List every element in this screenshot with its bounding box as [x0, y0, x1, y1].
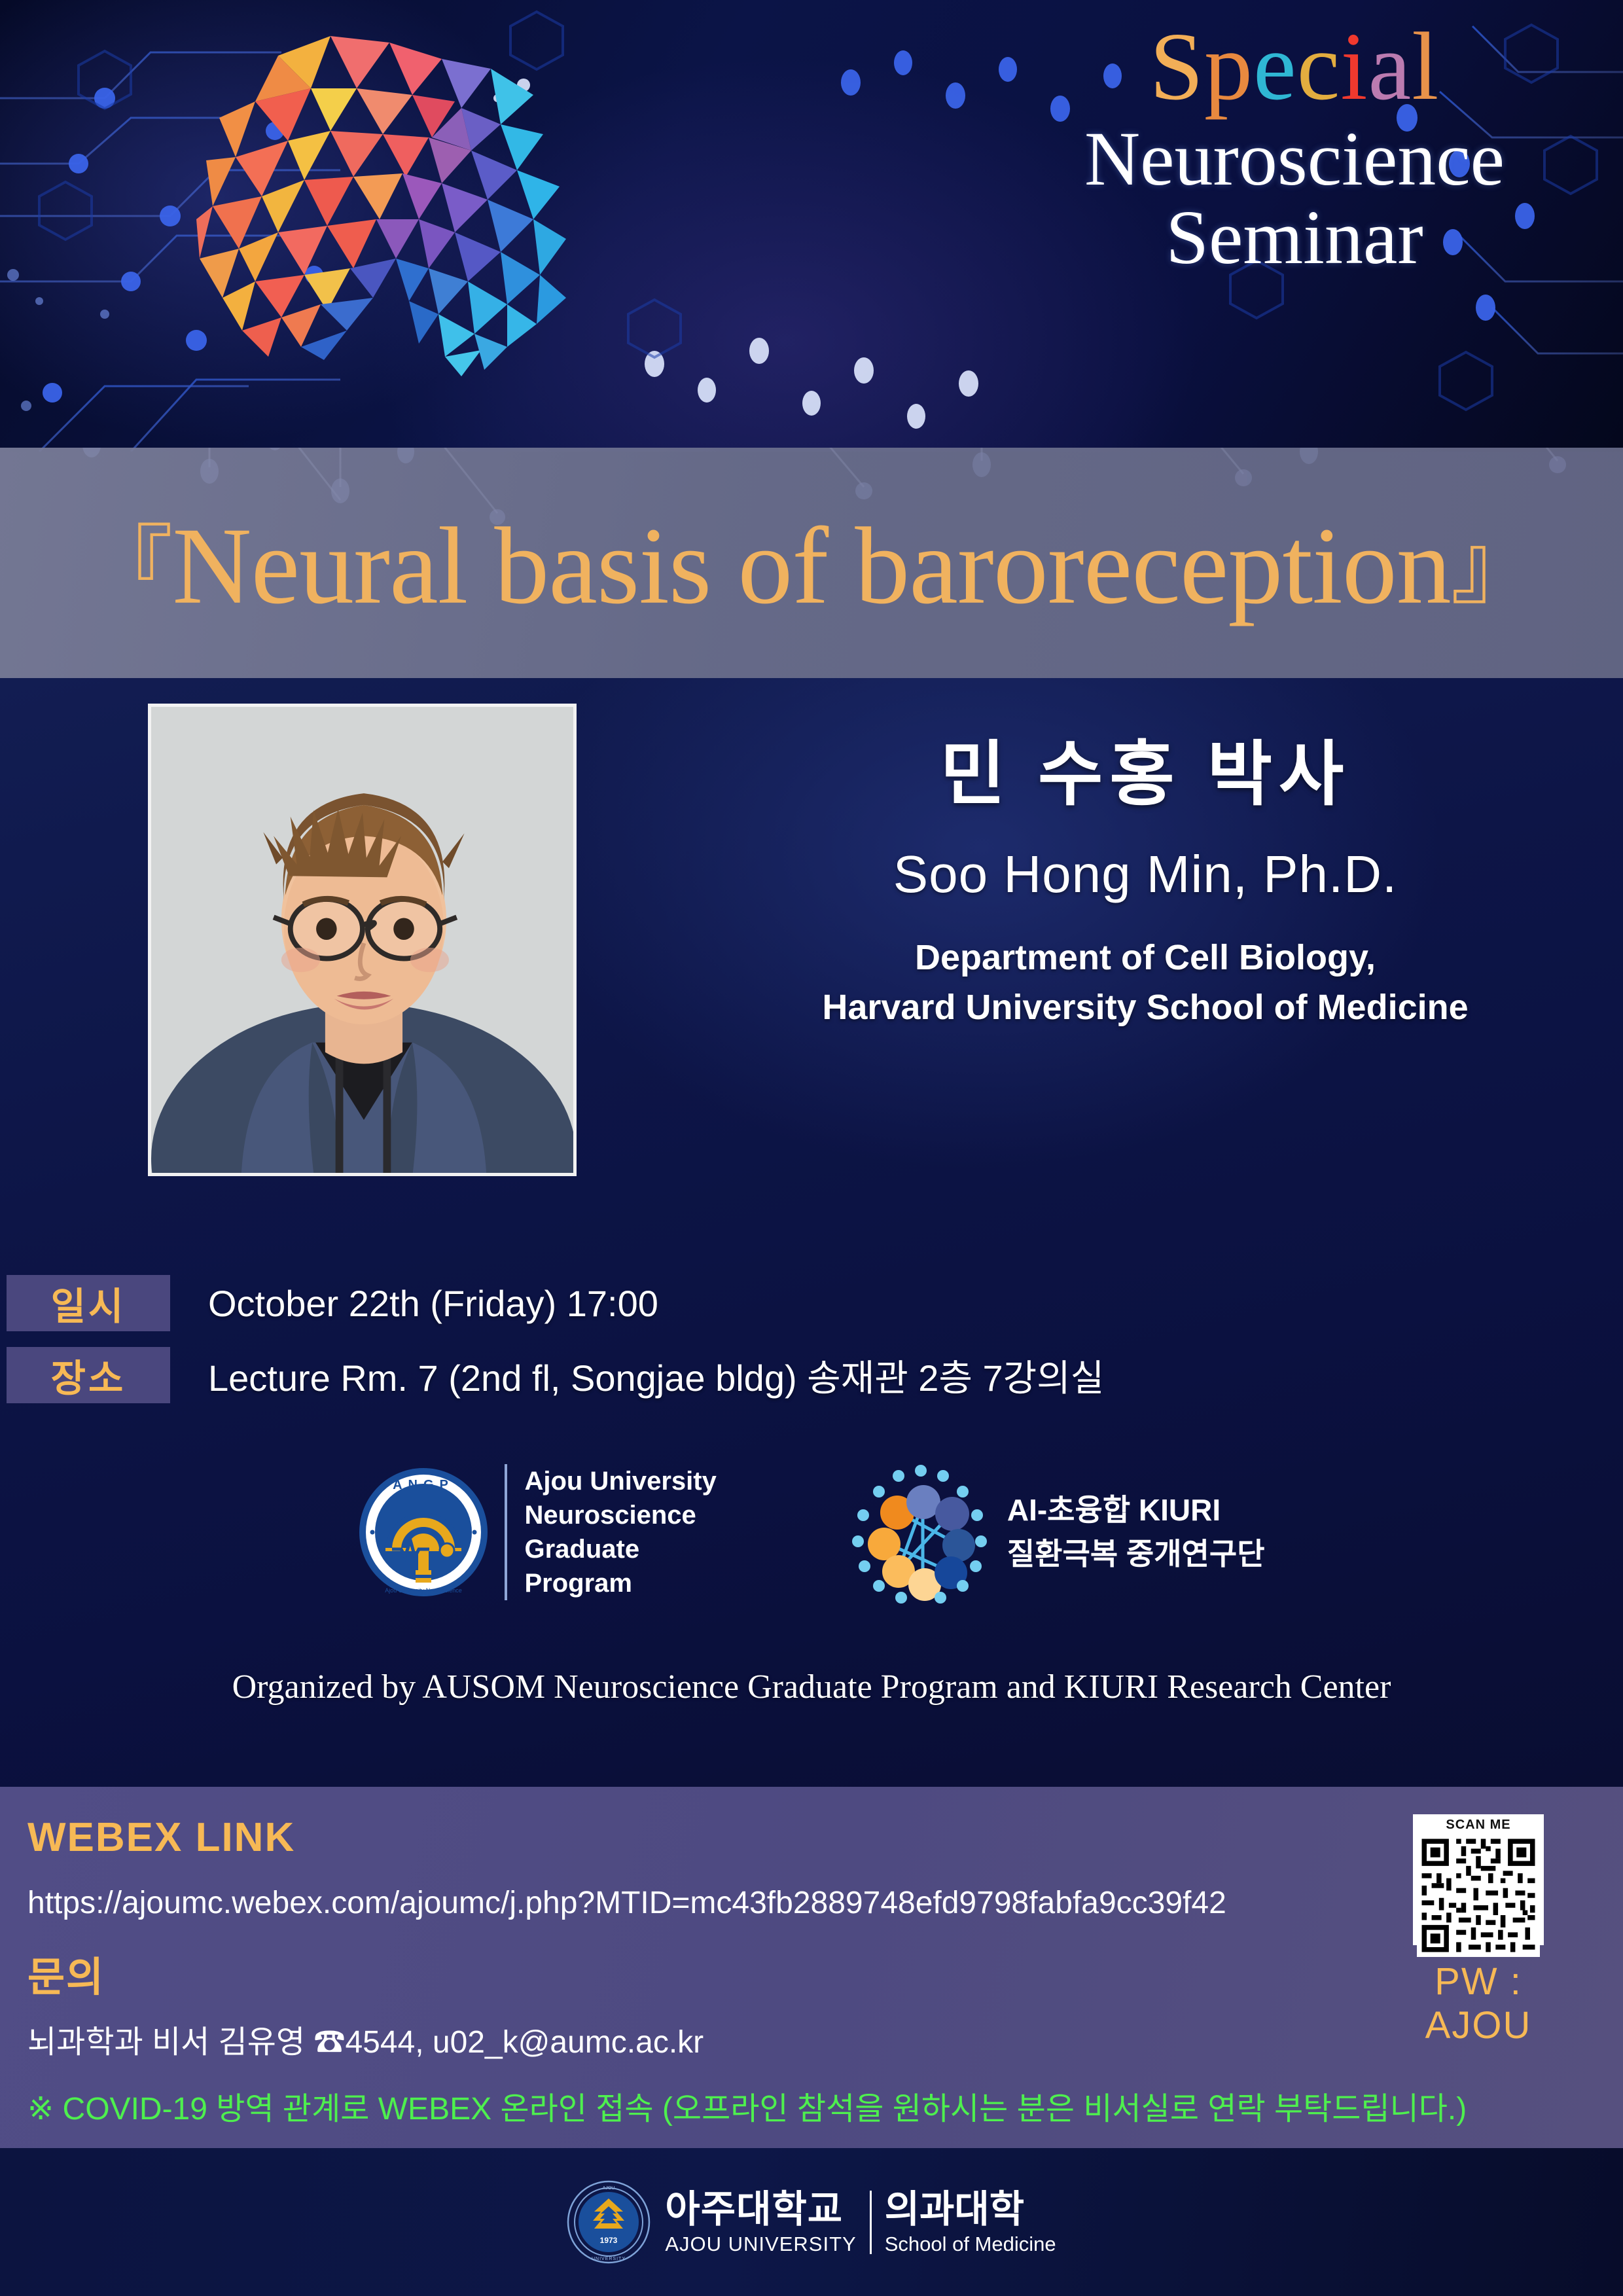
seminar-poster: Special Neuroscience Seminar	[0, 0, 1623, 2296]
special-letter-p: p	[1204, 13, 1253, 120]
qr-code-block: SCAN ME	[1390, 1814, 1567, 2047]
network-nodes-icon	[841, 1460, 991, 1604]
webex-url[interactable]: https://ajoumc.webex.com/ajoumc/j.php?MT…	[27, 1885, 1226, 1921]
footer-university-kr: 아주대학교	[665, 2191, 856, 2229]
footer-school: 의과대학 School of Medicine	[885, 2191, 1056, 2254]
footer-university: 아주대학교 AJOU UNIVERSITY	[665, 2191, 856, 2254]
event-datetime-row: 일시 October 22th (Friday) 17:00	[7, 1275, 658, 1331]
svg-text:Ajou University Neuroscience: Ajou University Neuroscience	[385, 1587, 463, 1594]
qr-code-matrix	[1417, 1834, 1540, 1957]
special-letter-a: a	[1368, 13, 1412, 120]
speaker-photo-frame	[148, 704, 577, 1176]
talk-title: 『Neural basis of baroreception』	[0, 496, 1623, 630]
kiuri-line1: AI-초융합 KIURI	[1007, 1488, 1265, 1532]
inquiry-heading: 문의	[27, 1944, 105, 2003]
open-bracket: 『	[86, 518, 172, 615]
svg-text:AJOU: AJOU	[603, 2186, 615, 2191]
kiuri-line2: 질환극복 중개연구단	[1007, 1532, 1265, 1576]
webex-password: PW : AJOU	[1390, 1960, 1567, 2047]
special-letter-S: S	[1150, 13, 1204, 120]
poster-main: 민 수홍 박사 Soo Hong Min, Ph.D. Department o…	[0, 678, 1623, 1787]
footer-school-kr: 의과대학	[885, 2191, 1056, 2229]
location-value: Lecture Rm. 7 (2nd fl, Songjae bldg) 송재관…	[208, 1349, 1104, 1402]
talk-title-text: Neural basis of baroreception	[172, 505, 1451, 627]
angp-line4: Program	[524, 1566, 716, 1600]
talk-title-banner: 『Neural basis of baroreception』	[0, 448, 1623, 678]
special-letter-i: i	[1340, 13, 1368, 120]
angp-logo-text: Ajou University Neuroscience Graduate Pr…	[505, 1464, 716, 1600]
speaker-name-english: Soo Hong Min, Ph.D.	[707, 844, 1584, 905]
webex-link-heading: WEBEX LINK	[27, 1814, 295, 1861]
ajou-university-seal-icon: 1973 AJOU UNIVERSITY	[567, 2180, 651, 2264]
sponsor-logos: ANGP Ajou University Neuroscience Ajou U…	[0, 1460, 1623, 1604]
special-title: Special	[1039, 18, 1550, 115]
header-line-seminar: Seminar	[1039, 199, 1550, 276]
speaker-affiliation-line1: Department of Cell Biology,	[707, 937, 1584, 978]
header-line-neuroscience: Neuroscience	[1039, 120, 1550, 198]
ajou-footer-logo: 1973 AJOU UNIVERSITY 아주대학교 AJOU UNIVERSI…	[567, 2180, 1056, 2264]
close-bracket: 』	[1451, 518, 1537, 615]
svg-text:UNIVERSITY: UNIVERSITY	[592, 2257, 626, 2261]
speaker-name-korean: 민 수홍 박사	[707, 717, 1584, 819]
footer-school-en: School of Medicine	[885, 2234, 1056, 2254]
special-letter-l: l	[1412, 13, 1439, 120]
datetime-badge: 일시	[7, 1275, 170, 1331]
angp-logo-unit: ANGP Ajou University Neuroscience Ajou U…	[358, 1464, 716, 1600]
datetime-value: October 22th (Friday) 17:00	[208, 1282, 658, 1325]
header-title-block: Special Neuroscience Seminar	[1039, 18, 1550, 276]
angp-line2: Neuroscience	[524, 1498, 716, 1532]
poster-footer: 1973 AJOU UNIVERSITY 아주대학교 AJOU UNIVERSI…	[0, 2148, 1623, 2296]
speaker-info: 민 수홍 박사 Soo Hong Min, Ph.D. Department o…	[707, 717, 1584, 1028]
footer-names: 아주대학교 AJOU UNIVERSITY 의과대학 School of Med…	[665, 2191, 1056, 2254]
poster-header: Special Neuroscience Seminar	[0, 0, 1623, 452]
seal-year: 1973	[600, 2236, 618, 2245]
webex-section: WEBEX LINK https://ajoumc.webex.com/ajou…	[0, 1787, 1623, 2148]
footer-university-en: AJOU UNIVERSITY	[665, 2234, 856, 2254]
kiuri-logo-unit: AI-초융합 KIURI 질환극복 중개연구단	[841, 1460, 1265, 1604]
qr-code-icon[interactable]: SCAN ME	[1413, 1814, 1544, 1945]
organized-by-text: Organized by AUSOM Neuroscience Graduate…	[0, 1668, 1623, 1706]
low-poly-brain-icon	[115, 10, 586, 376]
footer-divider	[870, 2191, 872, 2254]
special-letter-c: c	[1297, 13, 1341, 120]
contact-info[interactable]: 뇌과학과 비서 김유영 ☎4544, u02_k@aumc.ac.kr	[27, 2016, 704, 2062]
svg-text:ANGP: ANGP	[393, 1478, 455, 1492]
speaker-affiliation-line2: Harvard University School of Medicine	[707, 987, 1584, 1028]
special-letter-e: e	[1253, 13, 1297, 120]
location-badge: 장소	[7, 1347, 170, 1403]
qr-scan-label: SCAN ME	[1413, 1818, 1544, 1833]
angp-line3: Graduate	[524, 1532, 716, 1566]
angp-line1: Ajou University	[524, 1464, 716, 1498]
kiuri-logo-text: AI-초융합 KIURI 질환극복 중개연구단	[1007, 1488, 1265, 1575]
speaker-portrait-photo	[151, 707, 573, 1173]
covid-notice: ※ COVID-19 방역 관계로 WEBEX 온라인 접속 (오프라인 참석을…	[27, 2083, 1467, 2128]
angp-seal-icon: ANGP Ajou University Neuroscience	[358, 1467, 489, 1598]
event-location-row: 장소 Lecture Rm. 7 (2nd fl, Songjae bldg) …	[7, 1347, 1104, 1403]
